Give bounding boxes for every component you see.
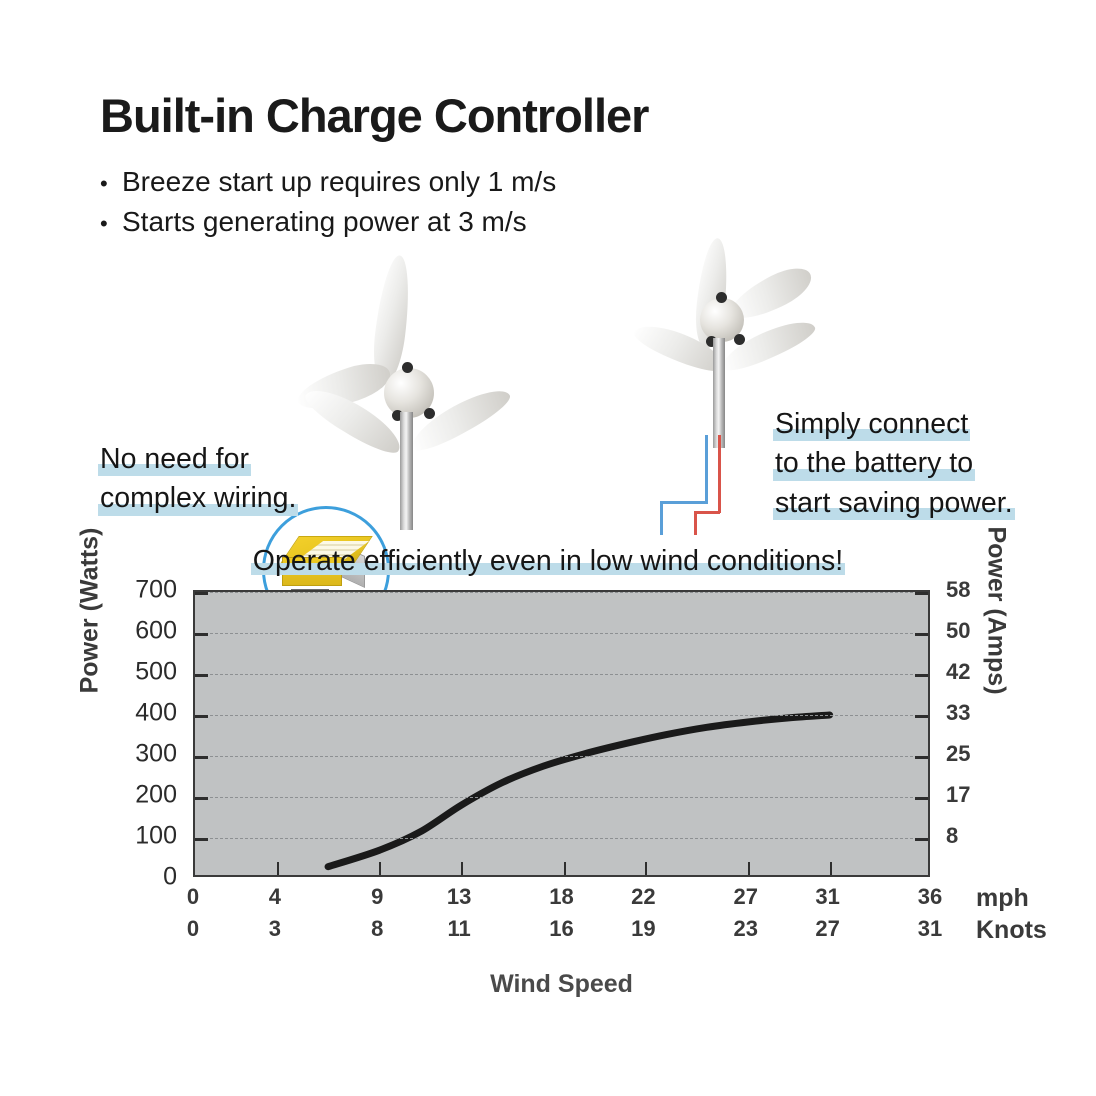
x-axis-title: Wind Speed: [193, 970, 930, 999]
power-curve: [195, 592, 932, 879]
x-axis-tick-label-knots: 0: [187, 916, 199, 942]
annotation-right-line: to the battery to: [775, 444, 973, 483]
x-axis-tick-label-mph: 4: [269, 884, 281, 910]
x-axis-tick-label-knots: 31: [918, 916, 942, 942]
y-tick-left: [195, 633, 208, 636]
bullet-dot-icon: •: [100, 213, 122, 235]
list-item-label: Breeze start up requires only 1 m/s: [122, 162, 556, 202]
annotation-left: No need for complex wiring.: [100, 440, 296, 519]
y-tick-right: [915, 838, 928, 841]
hub-bolt: [402, 362, 413, 373]
hub-bolt: [424, 408, 435, 419]
annotation-left-line: No need for: [100, 440, 249, 479]
chart-gridline: [195, 797, 928, 798]
y-axis-tick-label-right: 25: [946, 741, 970, 767]
x-axis-tick-label-mph: 36: [918, 884, 942, 910]
turbine-mast: [400, 412, 413, 530]
page-title: Built-in Charge Controller: [100, 88, 648, 143]
x-axis-unit-knots: Knots: [976, 916, 1047, 945]
x-axis-tick-label-knots: 3: [269, 916, 281, 942]
x-axis-tick-label-knots: 27: [815, 916, 839, 942]
x-axis-tick-label-mph: 31: [815, 884, 839, 910]
y-tick-left: [195, 838, 208, 841]
y-tick-right: [915, 674, 928, 677]
annotation-right-line: Simply connect: [775, 405, 968, 444]
y-axis-tick-label-left: 600: [135, 617, 177, 646]
x-axis-tick-label-mph: 0: [187, 884, 199, 910]
x-axis-tick-label-knots: 19: [631, 916, 655, 942]
y-axis-tick-label-right: 17: [946, 782, 970, 808]
y-tick-right: [915, 797, 928, 800]
x-axis-labels: 004398131118162219272331273631: [193, 884, 930, 944]
chart-gridline: [195, 715, 928, 716]
bullet-dot-icon: •: [100, 173, 122, 195]
y-axis-tick-label-left: 200: [135, 781, 177, 810]
y-tick-right: [915, 715, 928, 718]
x-tick: [461, 862, 463, 875]
chart-gridline: [195, 756, 928, 757]
x-axis-tick-label-mph: 22: [631, 884, 655, 910]
negative-wire: [660, 501, 708, 504]
y-tick-left: [195, 592, 208, 595]
x-tick: [379, 862, 381, 875]
y-axis-labels-left: 0100200300400500600700: [105, 590, 177, 877]
y-tick-left: [195, 674, 208, 677]
y-axis-tick-label-left: 0: [163, 863, 177, 892]
positive-wire: [694, 511, 697, 535]
x-axis-tick-label-mph: 9: [371, 884, 383, 910]
y-tick-left: [195, 797, 208, 800]
turbine-mast: [713, 338, 725, 448]
x-axis-tick-label-knots: 23: [734, 916, 758, 942]
y-axis-tick-label-right: 42: [946, 659, 970, 685]
feature-bullet-list: • Breeze start up requires only 1 m/s • …: [100, 162, 720, 242]
x-axis-tick-label-knots: 8: [371, 916, 383, 942]
x-tick: [564, 862, 566, 875]
negative-wire: [705, 435, 708, 503]
chart-gridline: [195, 592, 928, 593]
y-axis-labels-right: 8172533425058: [946, 590, 992, 877]
x-axis-tick-label-mph: 27: [734, 884, 758, 910]
annotation-left-line: complex wiring.: [100, 479, 296, 518]
y-axis-tick-label-right: 8: [946, 823, 958, 849]
x-tick: [830, 862, 832, 875]
y-axis-tick-label-right: 50: [946, 618, 970, 644]
y-axis-tick-label-right: 33: [946, 700, 970, 726]
y-tick-left: [195, 715, 208, 718]
chart-caption: Operate efficiently even in low wind con…: [0, 545, 1096, 578]
list-item-label: Starts generating power at 3 m/s: [122, 202, 527, 242]
y-tick-right: [915, 633, 928, 636]
chart-gridline: [195, 633, 928, 634]
y-axis-tick-label-left: 500: [135, 658, 177, 687]
x-axis-tick-label-knots: 11: [447, 916, 470, 942]
y-axis-tick-label-left: 400: [135, 699, 177, 728]
list-item: • Breeze start up requires only 1 m/s: [100, 162, 720, 202]
hub-bolt: [734, 334, 745, 345]
negative-wire: [660, 501, 663, 535]
chart-gridline: [195, 838, 928, 839]
chart-plot-area: [193, 590, 930, 877]
x-tick: [645, 862, 647, 875]
y-axis-tick-label-left: 300: [135, 740, 177, 769]
x-axis-tick-label-knots: 16: [549, 916, 573, 942]
x-axis-tick-label-mph: 13: [447, 884, 471, 910]
x-axis-tick-label-mph: 18: [549, 884, 573, 910]
x-tick: [748, 862, 750, 875]
y-tick-right: [915, 756, 928, 759]
annotation-right-line: start saving power.: [775, 484, 1013, 523]
power-curve-line: [328, 715, 830, 867]
list-item: • Starts generating power at 3 m/s: [100, 202, 720, 242]
y-tick-right: [915, 592, 928, 595]
annotation-right: Simply connect to the battery to start s…: [775, 405, 1013, 523]
positive-wire: [718, 435, 721, 513]
x-axis-unit-mph: mph: [976, 884, 1029, 913]
y-tick-left: [195, 756, 208, 759]
chart-gridline: [195, 674, 928, 675]
chart-caption-text: Operate efficiently even in low wind con…: [253, 545, 843, 578]
positive-wire: [694, 511, 720, 514]
y-axis-tick-label-left: 100: [135, 822, 177, 851]
hub-bolt: [716, 292, 727, 303]
y-axis-tick-label-left: 700: [135, 576, 177, 605]
x-tick: [277, 862, 279, 875]
y-axis-tick-label-right: 58: [946, 577, 970, 603]
